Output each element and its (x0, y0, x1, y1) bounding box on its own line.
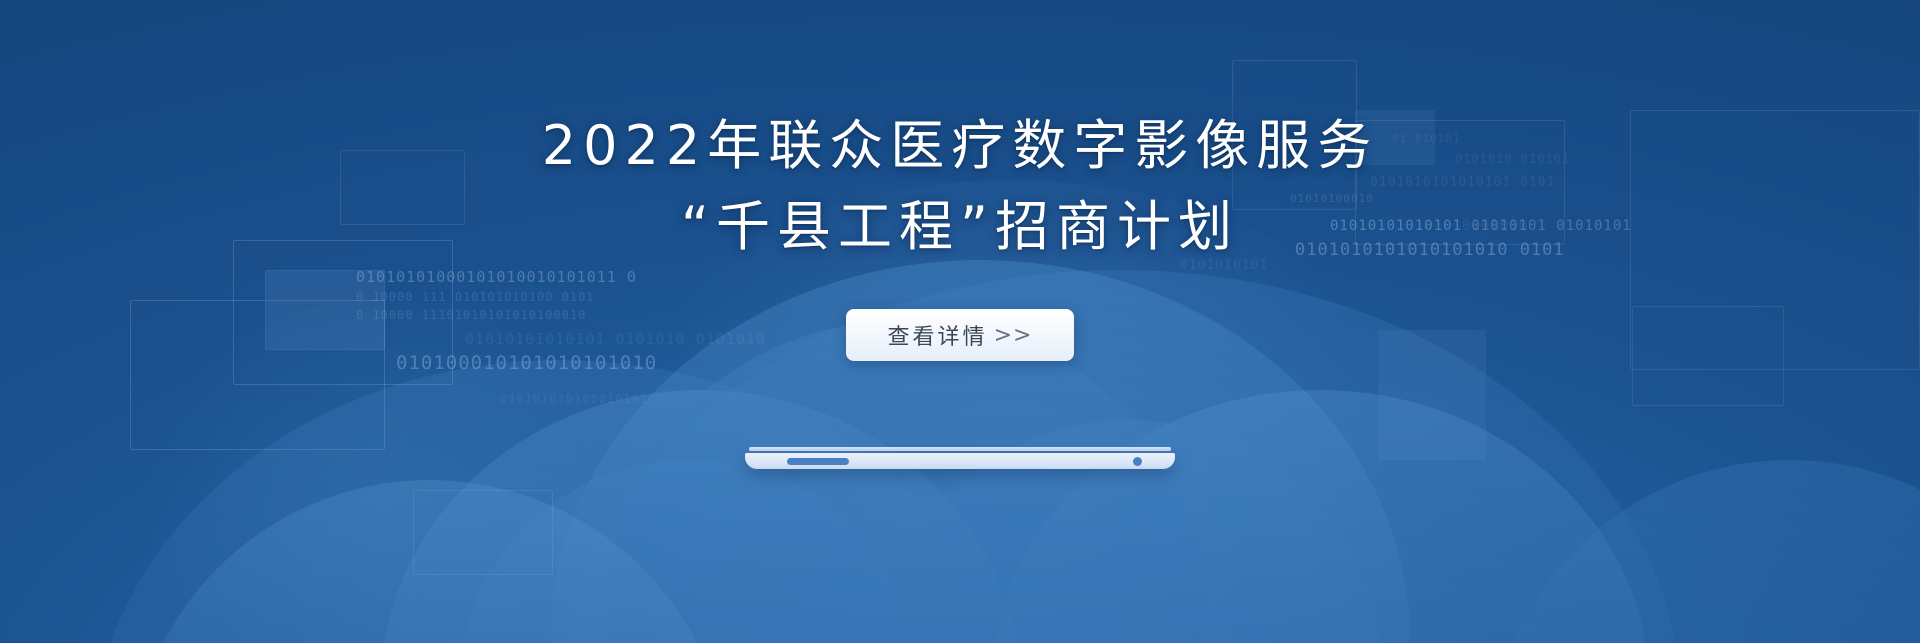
laptop-base-graphic (745, 447, 1175, 471)
laptop-hinge-notch (787, 458, 849, 465)
banner-content: 2022年联众医疗数字影像服务 “千县工程”招商计划 查看详情 >> (0, 0, 1920, 643)
title-line-2: “千县工程”招商计划 (542, 189, 1378, 266)
laptop-lid-edge (749, 447, 1171, 451)
laptop-indicator-dot (1133, 457, 1142, 466)
promo-banner: 01010101000101010010101011 0 0 10000 111… (0, 0, 1920, 643)
chevron-right-double-icon: >> (994, 323, 1033, 348)
view-details-button[interactable]: 查看详情 >> (846, 309, 1074, 361)
banner-title: 2022年联众医疗数字影像服务 “千县工程”招商计划 (542, 0, 1378, 265)
title-line-1: 2022年联众医疗数字影像服务 (542, 108, 1378, 185)
view-details-label: 查看详情 (888, 319, 988, 351)
